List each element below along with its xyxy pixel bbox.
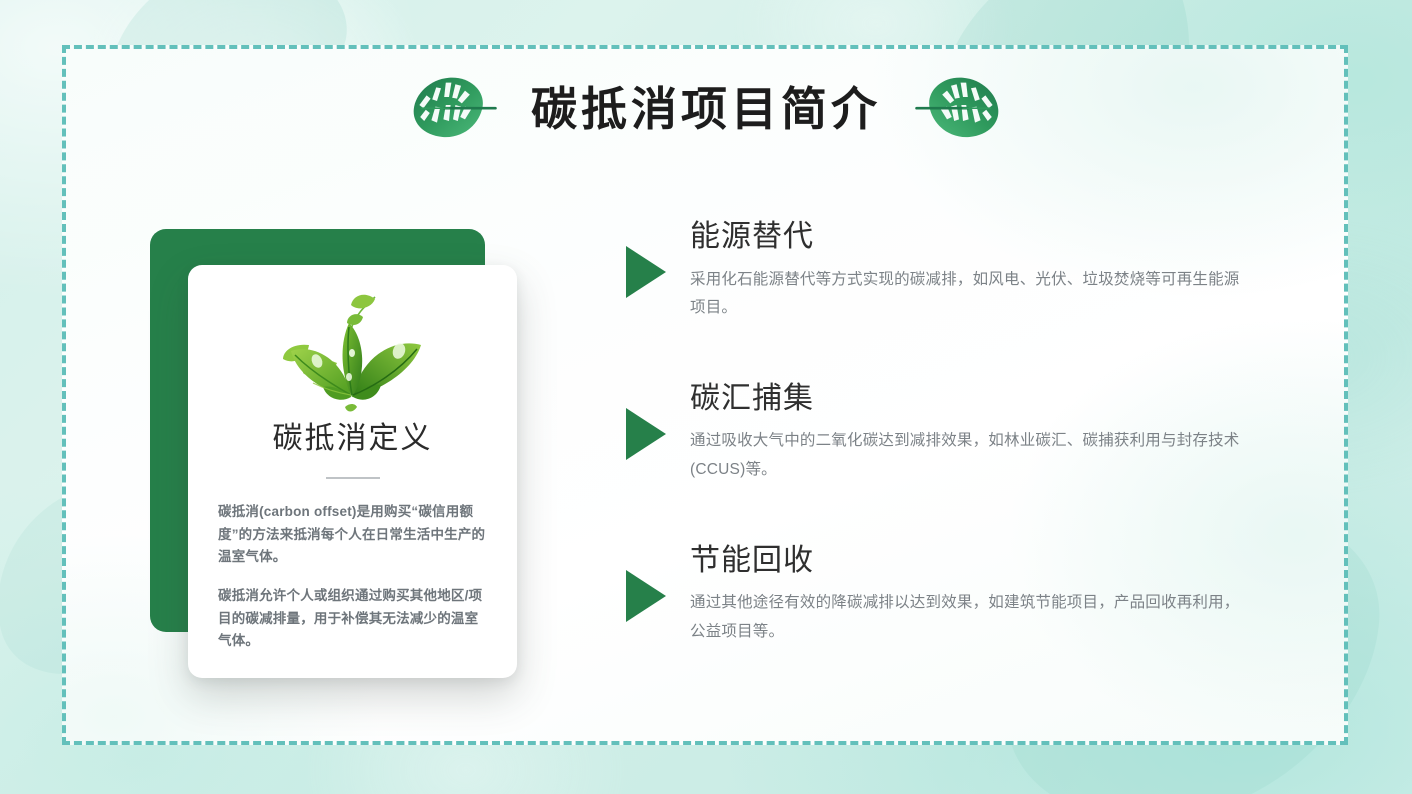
slide-root: 碳抵消项目简介 [0, 0, 1412, 794]
feature-title: 碳汇捕集 [690, 382, 1264, 417]
monstera-leaf-icon [409, 73, 497, 145]
card-paragraph: 碳抵消允许个人或组织通过购买其他地区/项目的碳减排量，用于补偿其无法减少的温室气… [218, 585, 487, 653]
triangle-right-icon [626, 246, 666, 298]
card-front-panel: 碳抵消定义 碳抵消(carbon offset)是用购买“碳信用额度”的方法来抵… [188, 265, 517, 678]
feature-title: 能源替代 [690, 220, 1264, 255]
definition-card: 碳抵消定义 碳抵消(carbon offset)是用购买“碳信用额度”的方法来抵… [150, 229, 530, 699]
title-row: 碳抵消项目简介 [0, 73, 1412, 145]
feature-description: 通过吸收大气中的二氧化碳达到减排效果，如林业碳汇、碳捕获利用与封存技术(CCUS… [690, 427, 1250, 483]
card-title: 碳抵消定义 [218, 421, 487, 457]
feature-item-carbon-sink-capture: 碳汇捕集 通过吸收大气中的二氧化碳达到减排效果，如林业碳汇、碳捕获利用与封存技术… [624, 382, 1264, 484]
feature-item-energy-substitution: 能源替代 采用化石能源替代等方式实现的碳减排，如风电、光伏、垃圾焚烧等可再生能源… [624, 220, 1264, 322]
triangle-right-icon [626, 570, 666, 622]
feature-list: 能源替代 采用化石能源替代等方式实现的碳减排，如风电、光伏、垃圾焚烧等可再生能源… [624, 220, 1264, 646]
monstera-leaf-icon [915, 73, 1003, 145]
feature-description: 采用化石能源替代等方式实现的碳减排，如风电、光伏、垃圾焚烧等可再生能源项目。 [690, 266, 1250, 322]
card-divider [326, 477, 380, 479]
triangle-right-icon [626, 408, 666, 460]
green-leaves-sprout-icon [253, 289, 453, 415]
feature-title: 节能回收 [690, 544, 1264, 579]
feature-description: 通过其他途径有效的降碳减排以达到效果，如建筑节能项目，产品回收再利用，公益项目等… [690, 589, 1250, 645]
card-paragraph: 碳抵消(carbon offset)是用购买“碳信用额度”的方法来抵消每个人在日… [218, 501, 487, 569]
page-title: 碳抵消项目简介 [531, 86, 881, 132]
feature-item-energy-saving-recycling: 节能回收 通过其他途径有效的降碳减排以达到效果，如建筑节能项目，产品回收再利用，… [624, 544, 1264, 646]
